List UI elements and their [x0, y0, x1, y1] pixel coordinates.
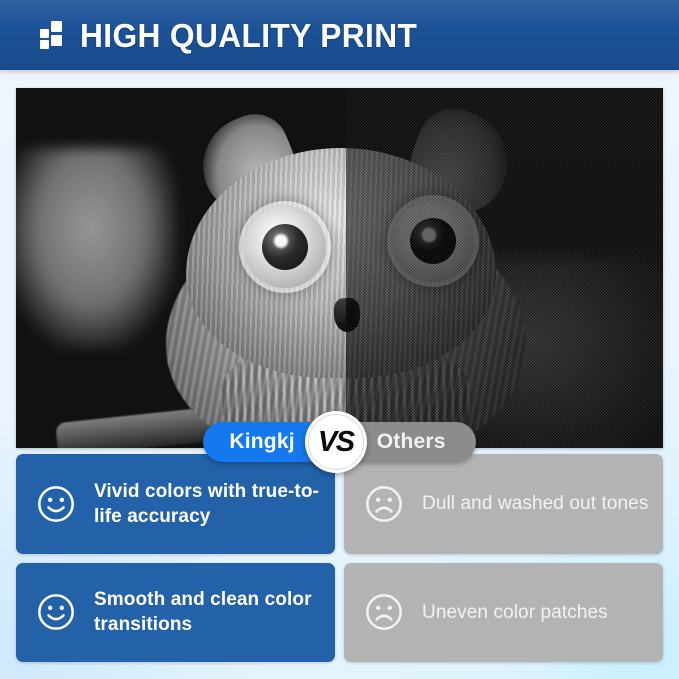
page-title: HIGH QUALITY PRINT	[80, 19, 417, 52]
grid-squares-icon	[40, 21, 66, 51]
smiley-face-icon	[36, 484, 76, 524]
owl-scene-bright	[16, 88, 346, 448]
feature-card-text: Vivid colors with true-to-life accuracy	[94, 479, 321, 529]
sad-face-icon	[364, 484, 404, 524]
page-background: HIGH QUALITY PRINT	[0, 0, 679, 679]
feature-card-dull-tones: Dull and washed out tones	[344, 454, 663, 554]
header-banner: HIGH QUALITY PRINT	[0, 0, 679, 70]
owl-eye-left	[244, 206, 326, 288]
owl-eye-glint-left	[274, 234, 288, 248]
comparison-image-right-half	[346, 88, 663, 448]
smiley-face-icon	[36, 592, 76, 632]
comparison-image-left-half	[16, 88, 346, 448]
feature-card-text: Uneven color patches	[422, 600, 608, 625]
grain-noise-overlay	[346, 88, 663, 448]
bokeh-left	[16, 148, 176, 348]
owl-pupil-left	[262, 224, 308, 270]
feature-card-smooth-transitions: Smooth and clean color transitions	[16, 563, 335, 663]
comparison-image	[16, 88, 663, 448]
feature-card-text: Smooth and clean color transitions	[94, 587, 321, 637]
feature-card-uneven-patches: Uneven color patches	[344, 563, 663, 663]
sad-face-icon	[364, 592, 404, 632]
feature-card-grid: Vivid colors with true-to-life accuracy …	[16, 454, 663, 662]
feature-card-vivid-colors: Vivid colors with true-to-life accuracy	[16, 454, 335, 554]
feature-card-text: Dull and washed out tones	[422, 491, 648, 516]
